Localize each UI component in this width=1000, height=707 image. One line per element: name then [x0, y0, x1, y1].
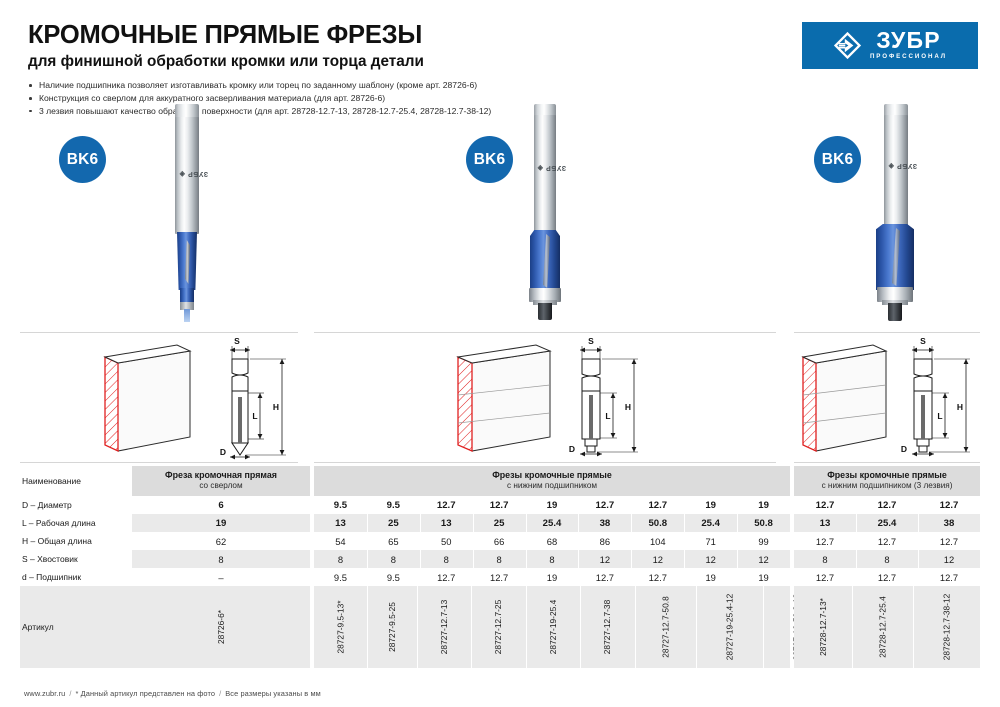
table-row: 13 25 13 25 25.4 38 50.8 25.4 50.8 [314, 514, 790, 532]
group-title: Фрезы кромочные прямые [827, 471, 947, 481]
svg-text:S: S [920, 336, 926, 346]
svg-text:D: D [901, 444, 907, 454]
cell-work-length: 38 [918, 514, 980, 532]
table-group-drill: Фреза кромочная прямая со сверлом 6 19 6… [132, 466, 310, 668]
cell-shank: 8 [526, 550, 579, 568]
cell-diameter: 12.7 [794, 496, 856, 514]
diagram-svg-3: S L H D [794, 333, 980, 463]
article-row: 28728-12.7-13* 28728-12.7-25.4 28728-12.… [794, 586, 980, 668]
cell-total-length: 50 [420, 532, 473, 550]
cell-shank: 8 [420, 550, 473, 568]
cell-diameter: 12.7 [473, 496, 526, 514]
footer-note-photo: * Данный артикул представлен на фото [76, 689, 216, 698]
table-row: 54 65 50 66 68 86 104 71 99 [314, 532, 790, 550]
cell-shank: 12 [684, 550, 737, 568]
row-header-article: Артикул [20, 586, 132, 668]
svg-text:S: S [588, 336, 594, 346]
footer: www.zubr.ru/* Данный артикул представлен… [24, 689, 321, 698]
group-header: Фреза кромочная прямая со сверлом [132, 466, 310, 496]
logo-tagline: ПРОФЕССИОНАЛ [870, 54, 947, 60]
table-row: 12.7 12.7 12.7 [794, 568, 980, 586]
cell-bearing: 12.7 [856, 568, 918, 586]
cell-work-length: 13 [420, 514, 473, 532]
cell-shank: 8 [856, 550, 918, 568]
table-group-bearing: Фрезы кромочные прямые с нижним подшипни… [314, 466, 790, 668]
table-row: 8 8 8 8 8 12 12 12 12 [314, 550, 790, 568]
table-label-column: Наименование D – Диаметр L – Рабочая дли… [20, 466, 132, 668]
list-item: Наличие подшипника позволяет изготавлива… [28, 79, 768, 92]
footer-separator: / [215, 689, 225, 698]
cell-work-length: 13 [314, 514, 367, 532]
cell-work-length: 50.8 [737, 514, 790, 532]
svg-text:H: H [625, 402, 631, 412]
cutter-image-3: ЗУБР ◈ [864, 104, 926, 326]
cell-total-length: 68 [526, 532, 579, 550]
table-row: 9.5 9.5 12.7 12.7 19 12.7 12.7 19 19 [314, 568, 790, 586]
section-divider [20, 462, 298, 463]
cell-shank: 8 [794, 550, 856, 568]
cell-bearing: 19 [526, 568, 579, 586]
group-title: Фрезы кромочные прямые [492, 471, 612, 481]
cell-diameter: 12.7 [856, 496, 918, 514]
header: КРОМОЧНЫЕ ПРЯМЫЕ ФРЕЗЫ для финишной обра… [0, 0, 1000, 118]
cell-total-length: 66 [473, 532, 526, 550]
table-row: 12.7 12.7 12.7 [794, 532, 980, 550]
cell-shank: 12 [737, 550, 790, 568]
cell-shank: 8 [473, 550, 526, 568]
table-row: 12.7 12.7 12.7 [794, 496, 980, 514]
table-row: 9.5 9.5 12.7 12.7 19 12.7 12.7 19 19 [314, 496, 790, 514]
cell-work-length: 25.4 [684, 514, 737, 532]
logo-text: ЗУБР ПРОФЕССИОНАЛ [870, 30, 947, 60]
footer-separator: / [65, 689, 75, 698]
table-group-three-flute: Фрезы кромочные прямые с нижним подшипни… [794, 466, 980, 668]
cell-total-length: 86 [578, 532, 631, 550]
table-row: – [132, 568, 310, 586]
cell-diameter: 12.7 [918, 496, 980, 514]
row-header-total-length: H – Общая длина [20, 532, 132, 550]
row-header-work-length: L – Рабочая длина [20, 514, 132, 532]
dimension-diagram-1: S L H D [20, 333, 310, 463]
arrow-diamond-icon [833, 31, 862, 60]
cell-work-length: 25 [473, 514, 526, 532]
cell-bearing: 9.5 [314, 568, 367, 586]
cell-total-length: 12.7 [794, 532, 856, 550]
product-panel-bearing-cutter: BK6 ЗУБР ◈ [314, 118, 790, 326]
dimension-diagram-3: S L H D [794, 333, 980, 463]
cell-diameter: 19 [684, 496, 737, 514]
feature-bullet-list: Наличие подшипника позволяет изготавлива… [28, 79, 768, 117]
cell-shank: 8 [132, 550, 310, 568]
cell-article: 28728-12.7-38-12 [913, 586, 980, 668]
cell-bearing: 19 [737, 568, 790, 586]
cell-bearing: – [132, 568, 310, 586]
product-panel-drill-bit: BK6 ЗУБР ◈ [20, 118, 310, 326]
table-row: 8 8 12 [794, 550, 980, 568]
cell-total-length: 71 [684, 532, 737, 550]
cutter-image-1: ЗУБР ◈ [167, 104, 207, 326]
cell-bearing: 12.7 [794, 568, 856, 586]
row-header-shank: S – Хвостовик [20, 550, 132, 568]
cell-article: 28728-12.7-13* [794, 586, 852, 668]
group-header: Фрезы кромочные прямые с нижним подшипни… [314, 466, 790, 496]
status-badge: BK6 [814, 136, 861, 183]
section-divider [314, 462, 776, 463]
footer-site[interactable]: www.zubr.ru [24, 689, 65, 698]
cell-article: 28727-9.5-13* [314, 586, 367, 668]
cell-shank: 12 [631, 550, 684, 568]
cell-work-length: 25.4 [526, 514, 579, 532]
cell-article: 28727-12.7-13 [417, 586, 471, 668]
cell-article: 28727-19-25.4-12 [696, 586, 763, 668]
svg-text:H: H [957, 402, 963, 412]
cutter-image-2: ЗУБР ◈ [517, 104, 573, 326]
cell-diameter: 19 [526, 496, 579, 514]
cell-article: 28727-12.7-25 [471, 586, 525, 668]
cell-shank: 8 [367, 550, 420, 568]
logo-wordmark: ЗУБР [876, 30, 941, 52]
svg-text:D: D [220, 447, 226, 457]
title-block: КРОМОЧНЫЕ ПРЯМЫЕ ФРЕЗЫ для финишной обра… [28, 22, 768, 117]
cell-diameter: 12.7 [578, 496, 631, 514]
cell-work-length: 25.4 [856, 514, 918, 532]
svg-text:D: D [569, 444, 575, 454]
cell-bearing: 12.7 [473, 568, 526, 586]
cell-total-length: 12.7 [856, 532, 918, 550]
cell-article: 28728-12.7-25.4 [852, 586, 913, 668]
section-divider [794, 462, 980, 463]
row-header-bearing: d – Подшипник [20, 568, 132, 586]
svg-text:S: S [234, 336, 240, 346]
cell-work-length: 38 [578, 514, 631, 532]
cell-diameter: 9.5 [367, 496, 420, 514]
cell-bearing: 12.7 [578, 568, 631, 586]
footer-note-units: Все размеры указаны в мм [225, 689, 321, 698]
article-row: 28726-6* [132, 586, 310, 668]
cell-total-length: 65 [367, 532, 420, 550]
article-row: 28727-9.5-13* 28727-9.5-25 28727-12.7-13… [314, 586, 790, 668]
list-item: 3 лезвия повышают качество обработки пов… [28, 105, 768, 118]
cell-article: 28727-12.7-38 [580, 586, 634, 668]
svg-text:L: L [937, 411, 942, 421]
cell-diameter: 6 [132, 496, 310, 514]
page-title: КРОМОЧНЫЕ ПРЯМЫЕ ФРЕЗЫ [28, 22, 768, 49]
cell-total-length: 12.7 [918, 532, 980, 550]
cell-article: 28727-9.5-25 [367, 586, 417, 668]
cell-article: 28727-19-25.4 [526, 586, 580, 668]
page-subtitle: для финишной обработки кромки или торца … [28, 54, 768, 71]
group-header: Фрезы кромочные прямые с нижним подшипни… [794, 466, 980, 496]
table-row: 19 [132, 514, 310, 532]
brand-logo: ЗУБР ПРОФЕССИОНАЛ [802, 22, 978, 69]
cell-diameter: 12.7 [420, 496, 473, 514]
cell-bearing: 12.7 [918, 568, 980, 586]
list-item: Конструкция со сверлом для аккуратного з… [28, 92, 768, 105]
cell-article: 28726-6* [132, 586, 310, 668]
cell-work-length: 50.8 [631, 514, 684, 532]
cell-work-length: 19 [132, 514, 310, 532]
cell-work-length: 13 [794, 514, 856, 532]
cell-total-length: 99 [737, 532, 790, 550]
table-row: 13 25.4 38 [794, 514, 980, 532]
svg-text:L: L [252, 411, 257, 421]
status-badge: BK6 [466, 136, 513, 183]
group-title: Фреза кромочная прямая [165, 471, 277, 481]
diagram-svg-2: S L H D [314, 333, 790, 463]
cell-diameter: 12.7 [631, 496, 684, 514]
group-subtitle: с нижним подшипником [507, 481, 597, 490]
cell-shank: 12 [918, 550, 980, 568]
cell-bearing: 9.5 [367, 568, 420, 586]
cell-bearing: 12.7 [631, 568, 684, 586]
cell-diameter: 9.5 [314, 496, 367, 514]
table-row: 6 [132, 496, 310, 514]
group-subtitle: со сверлом [199, 481, 242, 490]
svg-text:H: H [273, 402, 279, 412]
cell-bearing: 12.7 [420, 568, 473, 586]
cell-article: 28727-12.7-50.8 [635, 586, 696, 668]
cell-bearing: 19 [684, 568, 737, 586]
cell-shank: 8 [314, 550, 367, 568]
table-row: 8 [132, 550, 310, 568]
product-panel-three-flute-cutter: BK6 ЗУБР ◈ [794, 118, 980, 326]
diagram-svg-1: S L H D [20, 333, 310, 463]
svg-text:L: L [605, 411, 610, 421]
row-header-diameter: D – Диаметр [20, 496, 132, 514]
status-badge: BK6 [59, 136, 106, 183]
cell-shank: 12 [578, 550, 631, 568]
cell-total-length: 62 [132, 532, 310, 550]
cell-total-length: 54 [314, 532, 367, 550]
cell-diameter: 19 [737, 496, 790, 514]
cell-work-length: 25 [367, 514, 420, 532]
group-subtitle: с нижним подшипником (3 лезвия) [822, 481, 953, 490]
dimension-diagram-2: S L H D [314, 333, 790, 463]
table-corner-label: Наименование [20, 466, 132, 496]
cell-total-length: 104 [631, 532, 684, 550]
table-row: 62 [132, 532, 310, 550]
product-spec-sheet: КРОМОЧНЫЕ ПРЯМЫЕ ФРЕЗЫ для финишной обра… [0, 0, 1000, 707]
